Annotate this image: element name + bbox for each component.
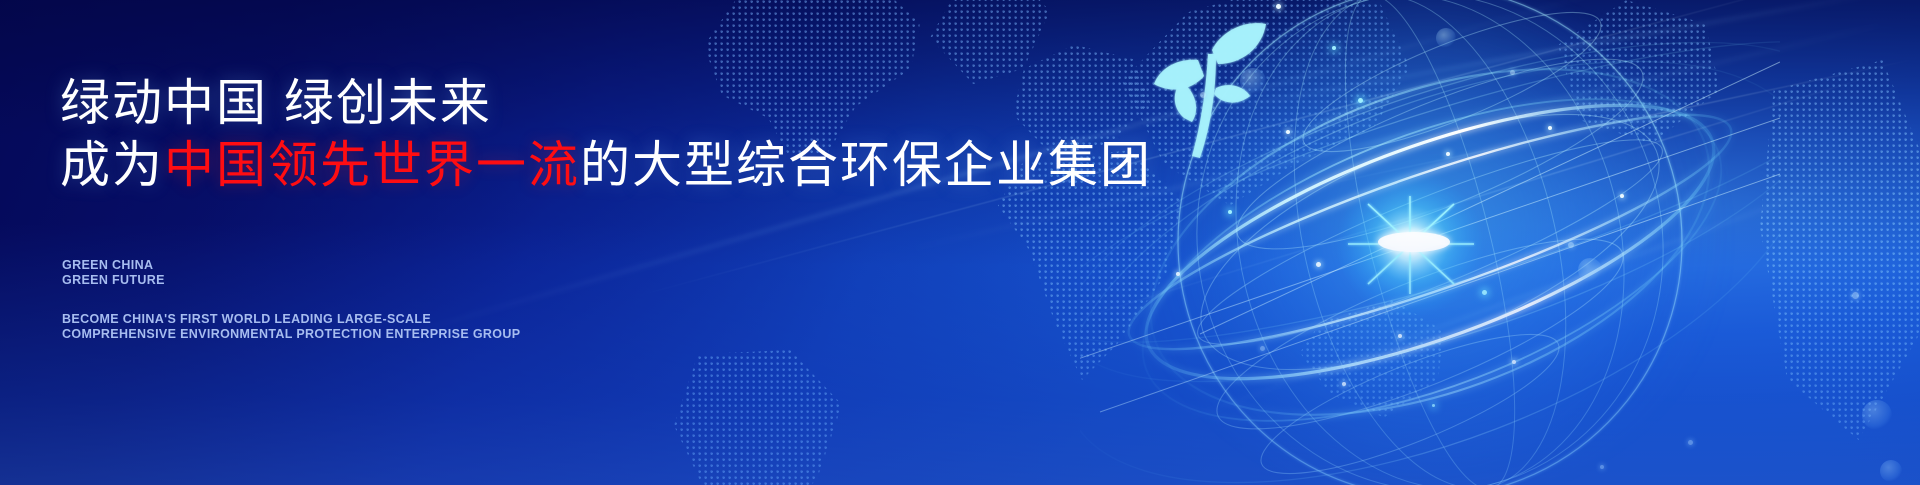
hero-banner: 绿动中国 绿创未来 成为中国领先世界一流的大型综合环保企业集团 GREEN CH… (0, 0, 1920, 485)
headline-suffix: 的大型综合环保企业集团 (580, 137, 1152, 193)
headline-line-2: 成为中国领先世界一流的大型综合环保企业集团 (60, 140, 1152, 190)
subtitle-english-line-1: BECOME CHINA'S FIRST WORLD LEADING LARGE… (62, 312, 520, 327)
tagline-english: GREEN CHINA GREEN FUTURE (62, 258, 165, 287)
tagline-english-line-1: GREEN CHINA (62, 258, 165, 273)
headline-prefix: 成为 (60, 137, 164, 193)
headline-line-1: 绿动中国 绿创未来 (60, 78, 492, 128)
subtitle-english: BECOME CHINA'S FIRST WORLD LEADING LARGE… (62, 312, 520, 341)
tagline-english-line-2: GREEN FUTURE (62, 273, 165, 288)
banner-copy: 绿动中国 绿创未来 成为中国领先世界一流的大型综合环保企业集团 GREEN CH… (60, 0, 1080, 485)
headline-highlight: 中国领先世界一流 (164, 137, 580, 193)
subtitle-english-line-2: COMPREHENSIVE ENVIRONMENTAL PROTECTION E… (62, 327, 520, 342)
